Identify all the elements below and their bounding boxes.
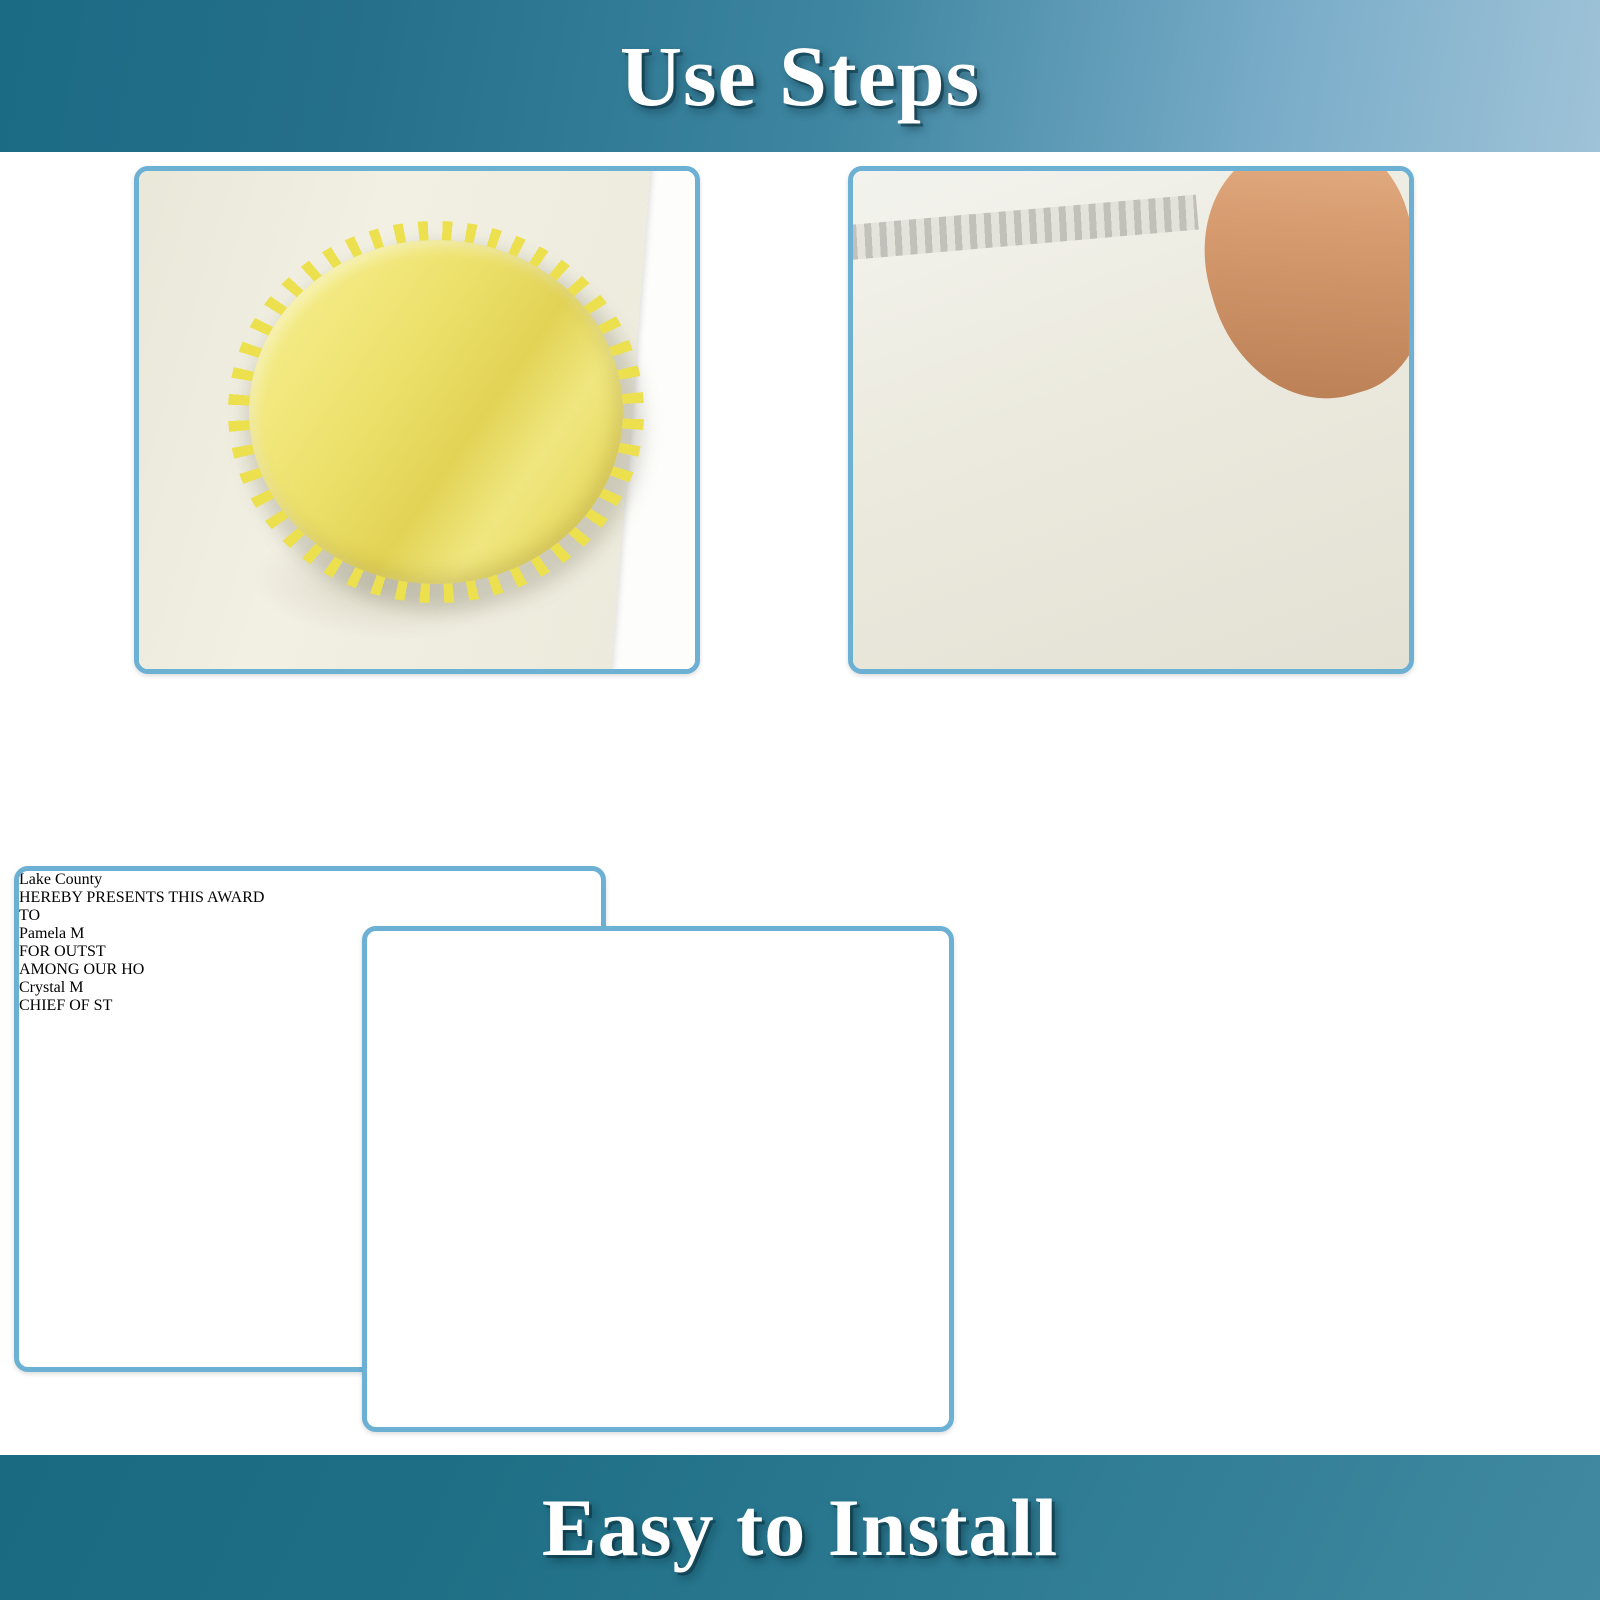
sticker-face — [249, 240, 624, 584]
certificate-award-line: HEREBY PRESENTS THIS AWARD — [19, 889, 601, 907]
page-title: Use Steps — [620, 26, 980, 126]
certificate-organization: Lake County — [19, 871, 601, 889]
step-2-photo-panel — [848, 166, 1414, 674]
photo-peel-sticker — [139, 171, 695, 669]
gold-starburst-sticker-icon — [228, 221, 644, 603]
header-banner: Use Steps — [0, 0, 1600, 152]
step-3-photo-panel-envelope — [362, 926, 954, 1432]
certificate-to-label: TO — [19, 907, 601, 925]
photo-sealed-envelope — [367, 931, 949, 1427]
footer-title: Easy to Install — [542, 1481, 1058, 1575]
footer-banner: Easy to Install — [0, 1455, 1600, 1600]
step-1-photo-panel — [134, 166, 700, 674]
photo-emboss-seal — [853, 171, 1409, 669]
gold-sticker-group — [228, 221, 662, 619]
